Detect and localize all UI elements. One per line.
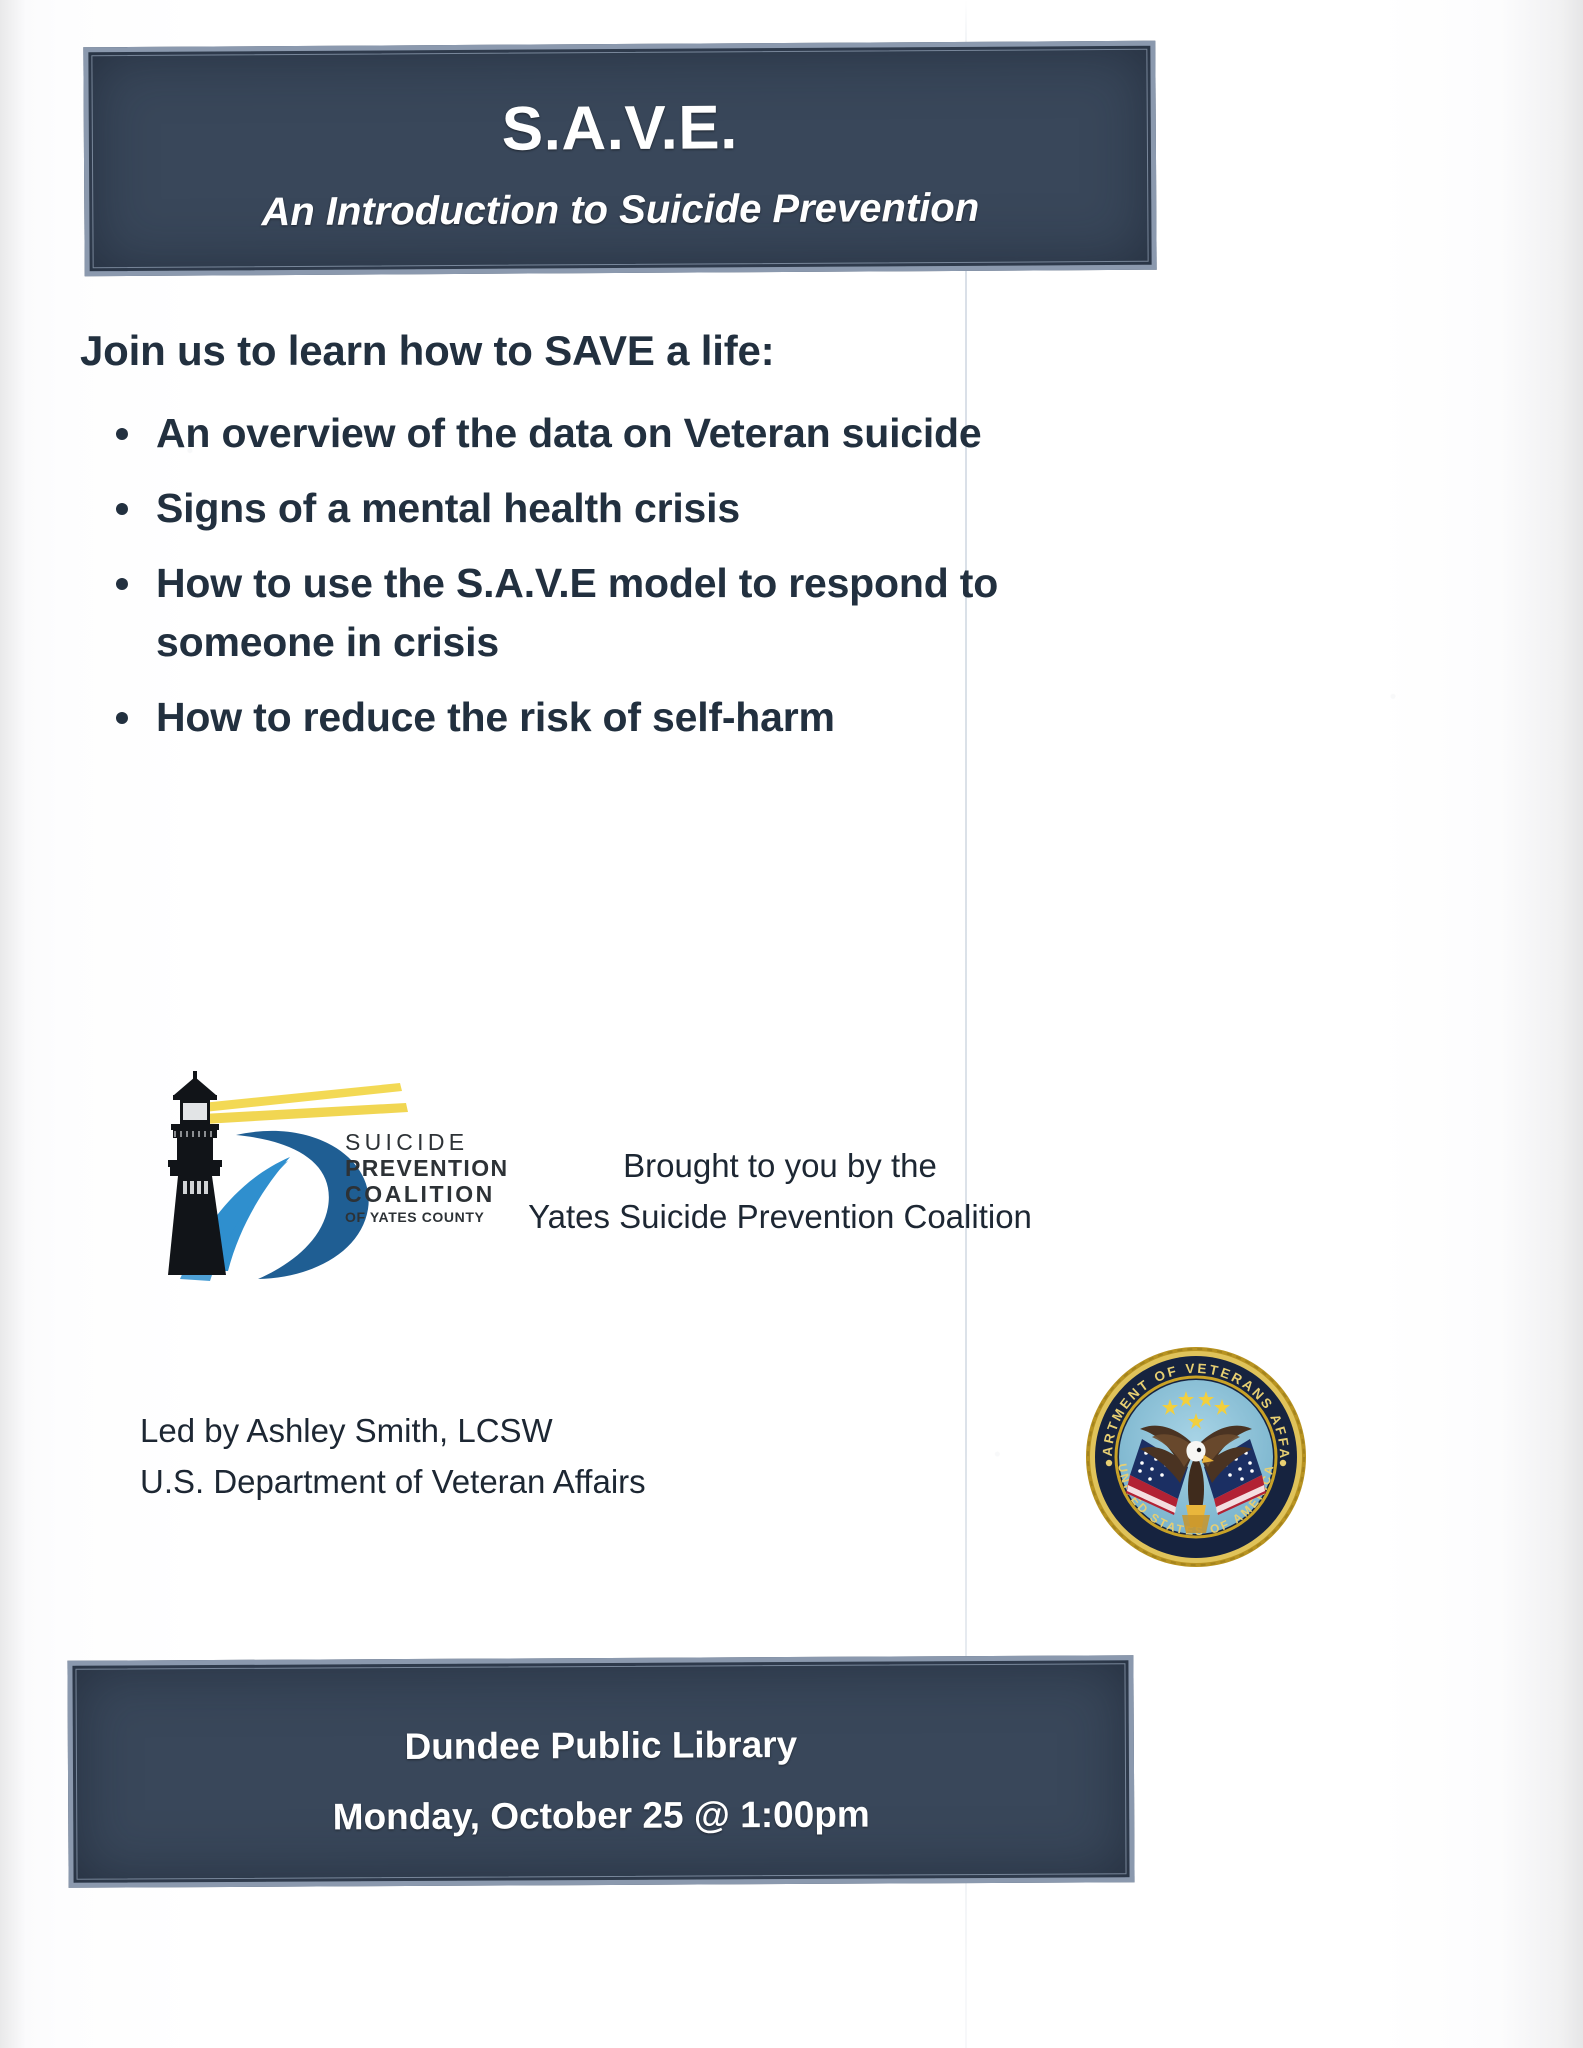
lead-in-text: Join us to learn how to SAVE a life:: [80, 327, 774, 375]
credit-line-2: Yates Suicide Prevention Coalition: [470, 1191, 1090, 1242]
list-item: How to reduce the risk of self-harm: [108, 688, 1148, 746]
presenter-block: Led by Ashley Smith, LCSW U.S. Departmen…: [140, 1405, 646, 1507]
page-subtitle: An Introduction to Suicide Prevention: [89, 185, 1151, 236]
coalition-logo: SUICIDE PREVENTION COALITION OF YATES CO…: [140, 1065, 470, 1290]
topics-list: An overview of the data on Veteran suici…: [108, 404, 1148, 763]
header-banner: S.A.V.E. An Introduction to Suicide Prev…: [83, 41, 1156, 277]
event-datetime: Monday, October 25 @ 1:00pm: [73, 1792, 1129, 1840]
presenter-org: U.S. Department of Veteran Affairs: [140, 1456, 646, 1507]
credit-block: Brought to you by the Yates Suicide Prev…: [470, 1140, 1090, 1242]
event-venue: Dundee Public Library: [73, 1722, 1129, 1770]
presenter-name: Led by Ashley Smith, LCSW: [140, 1405, 646, 1456]
credit-line-1: Brought to you by the: [470, 1140, 1090, 1191]
beam-icon: [202, 1083, 408, 1124]
footer-banner: Dundee Public Library Monday, October 25…: [67, 1655, 1134, 1888]
list-item: Signs of a mental health crisis: [108, 479, 1148, 537]
flyer-page: S.A.V.E. An Introduction to Suicide Prev…: [0, 0, 1583, 2048]
page-title: S.A.V.E.: [89, 90, 1151, 167]
department-of-veterans-affairs-seal-icon: DEPARTMENT OF VETERANS AFFAIRS UNITED ST…: [1082, 1343, 1310, 1571]
list-item: How to use the S.A.V.E model to respond …: [108, 554, 1148, 670]
list-item: An overview of the data on Veteran suici…: [108, 404, 1148, 462]
